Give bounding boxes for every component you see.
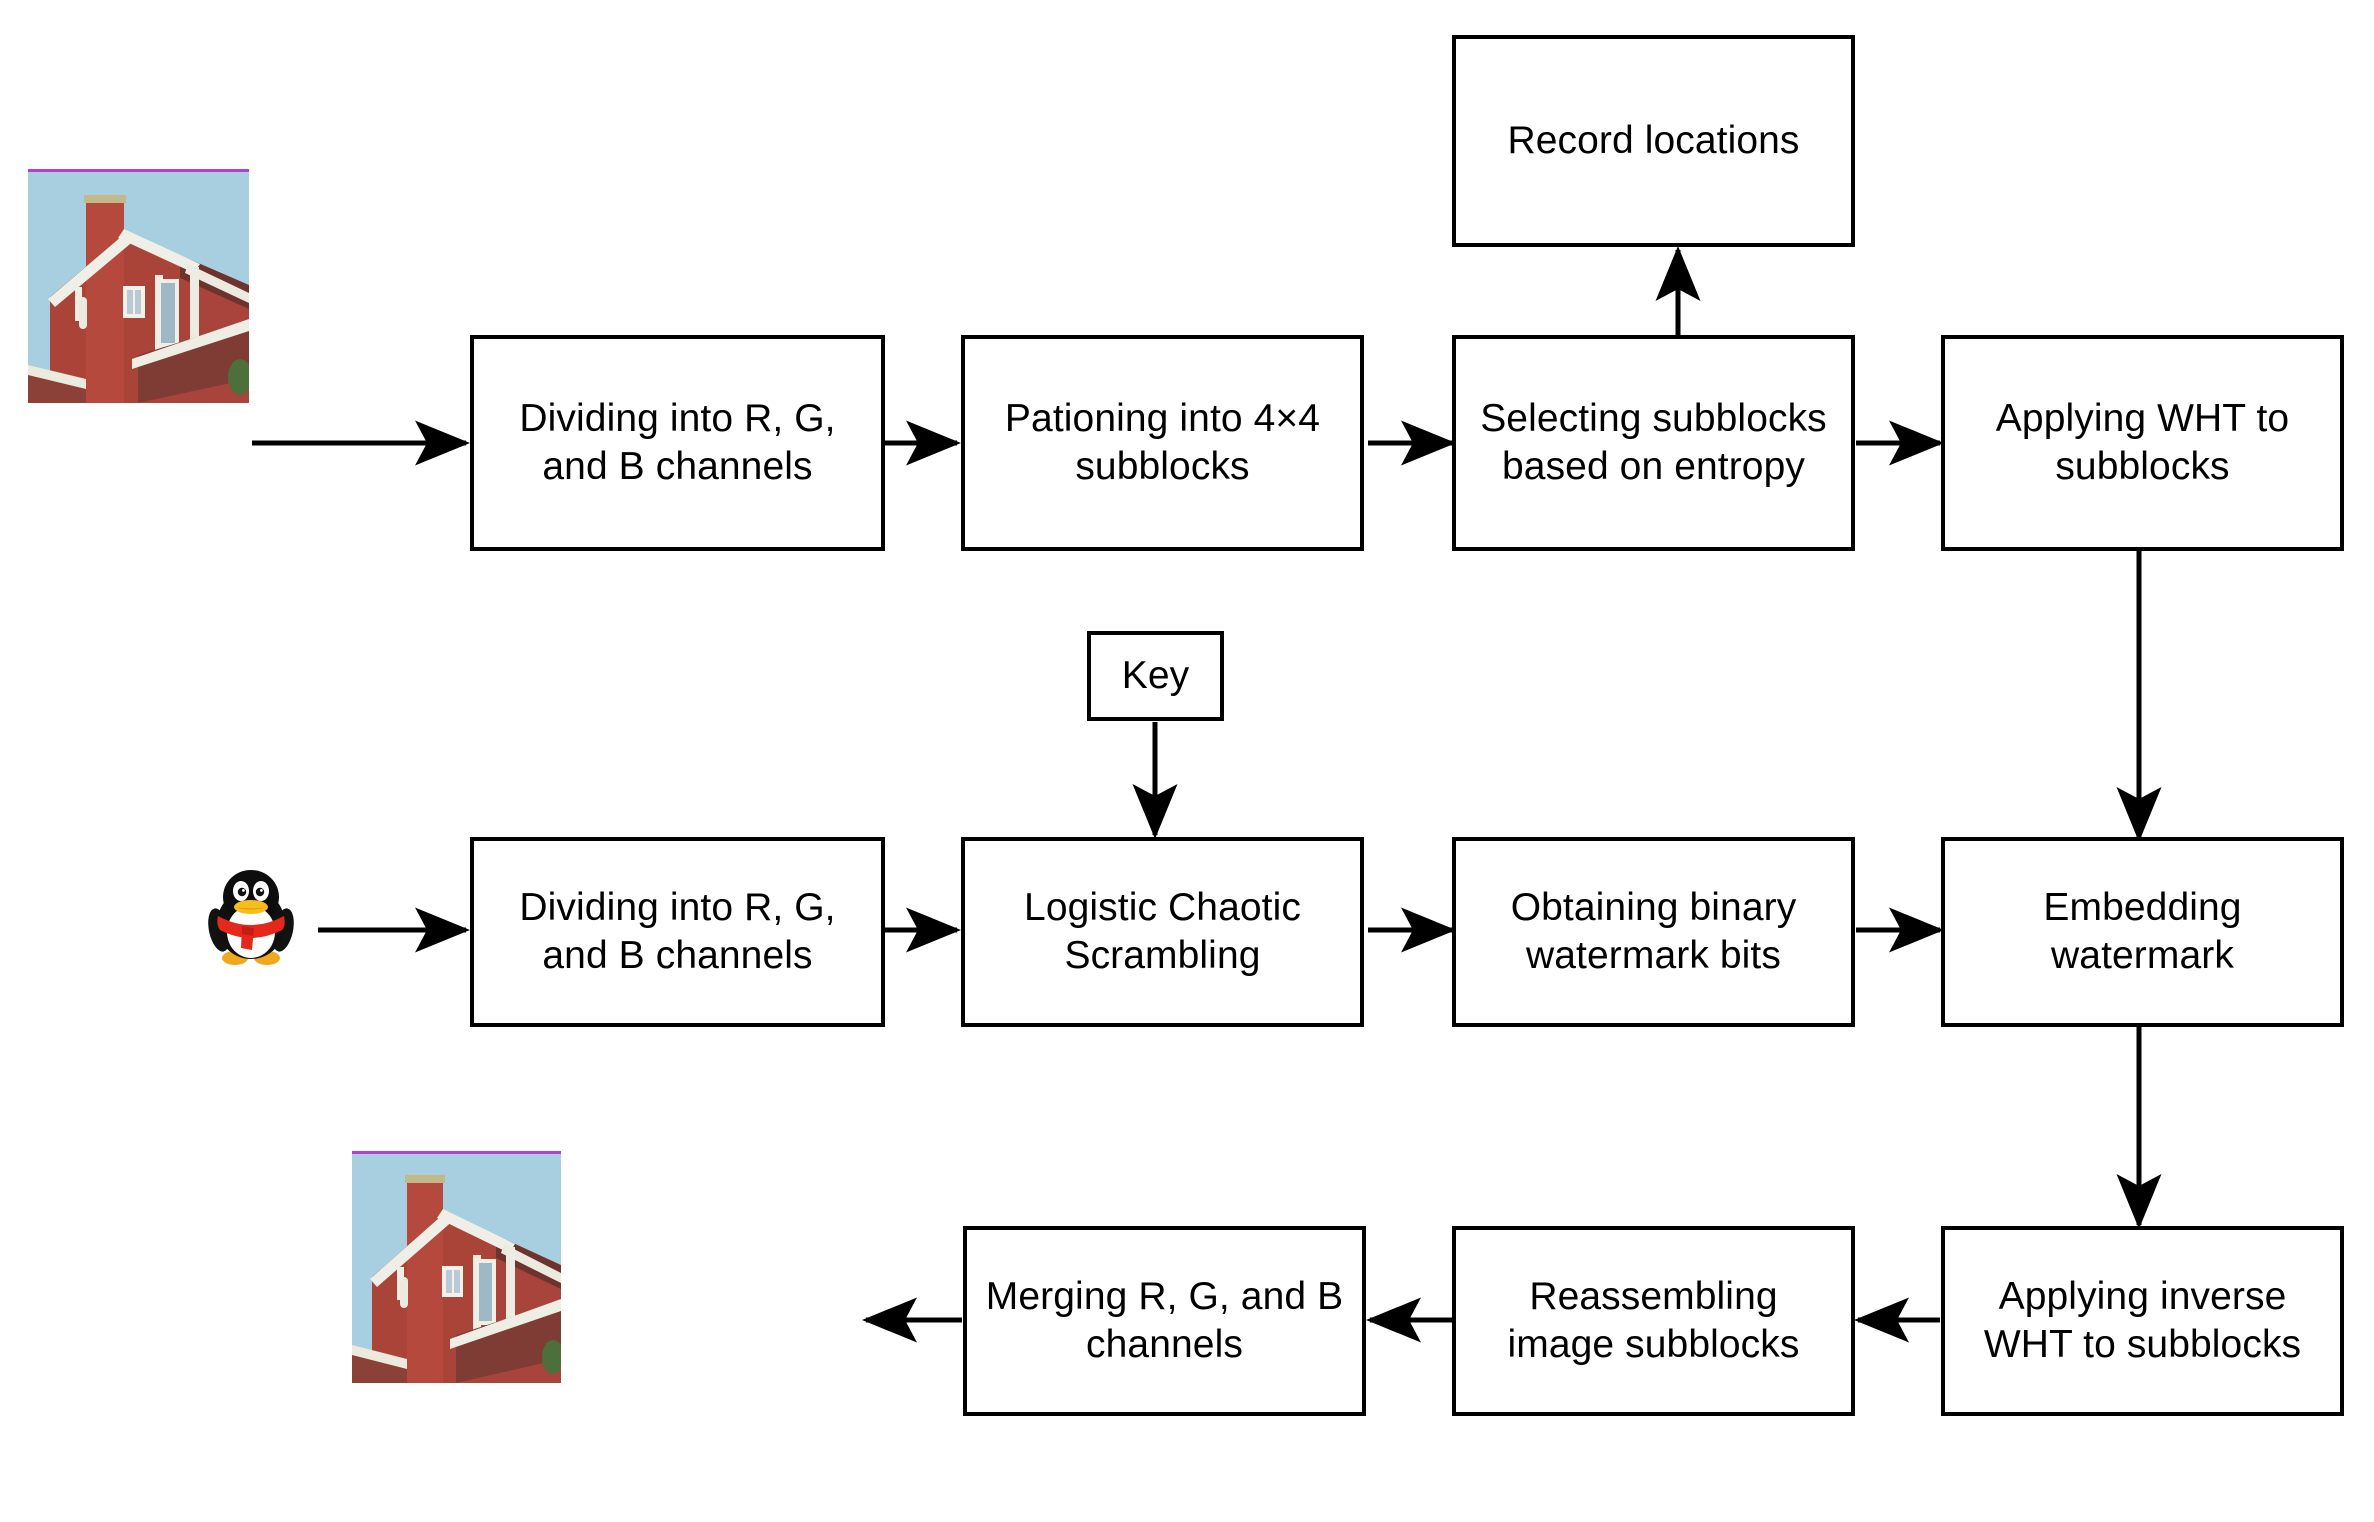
qq-penguin-logo	[202, 862, 300, 974]
node-embedding-watermark[interactable]: Embedding watermark	[1941, 837, 2344, 1027]
node-logistic-scrambling[interactable]: Logistic Chaotic Scrambling	[961, 837, 1364, 1027]
node-record-locations[interactable]: Record locations	[1452, 35, 1855, 247]
node-binary-watermark-bits[interactable]: Obtaining binary watermark bits	[1452, 837, 1855, 1027]
house-test-image	[28, 169, 249, 403]
host-image-thumbnail	[28, 169, 249, 403]
node-host-divide-channels[interactable]: Dividing into R, G, and B channels	[470, 335, 885, 551]
watermarked-house-image	[352, 1151, 561, 1383]
node-reassembling-subblocks[interactable]: Reassembling image subblocks	[1452, 1226, 1855, 1416]
node-apply-wht[interactable]: Applying WHT to subblocks	[1941, 335, 2344, 551]
node-partition-subblocks[interactable]: Pationing into 4×4 subblocks	[961, 335, 1364, 551]
node-select-subblocks[interactable]: Selecting subblocks based on entropy	[1452, 335, 1855, 551]
node-key[interactable]: Key	[1087, 631, 1224, 721]
node-inverse-wht[interactable]: Applying inverse WHT to subblocks	[1941, 1226, 2344, 1416]
output-image-thumbnail	[352, 1151, 561, 1383]
node-watermark-divide-channels[interactable]: Dividing into R, G, and B channels	[470, 837, 885, 1027]
flowchart-canvas: Record locations Dividing into R, G, and…	[0, 0, 2374, 1522]
watermark-image-thumbnail	[202, 862, 300, 974]
node-merging-channels[interactable]: Merging R, G, and B channels	[963, 1226, 1366, 1416]
